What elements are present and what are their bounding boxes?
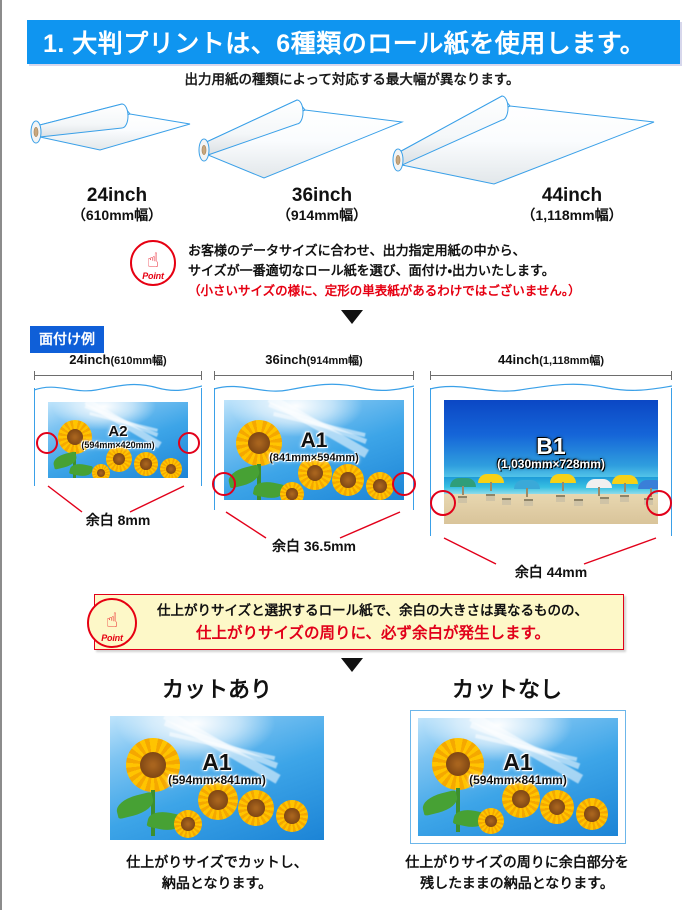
roll-name: 44inch (487, 185, 657, 206)
hand-glyph: ☝ (147, 251, 159, 271)
beach-umbrella (612, 475, 638, 484)
point-badge-label: Point (132, 271, 174, 281)
dim-cap-left (430, 371, 431, 380)
size-name: B1 (444, 434, 658, 458)
compare-left-title: カットあり (102, 672, 332, 704)
roll-label-44inch: 44inch （1,118mm幅） (487, 185, 657, 224)
beach-umbrella (514, 480, 540, 489)
margin-note: 余白 8mm (34, 510, 202, 530)
margin-highlight-right (392, 472, 416, 496)
panel-dim-title: 36inch(914mm幅) (214, 352, 414, 369)
sheet-edge-left (34, 388, 35, 486)
compare-left-artwork: A1 (594mm×841mm) (110, 716, 324, 840)
point-note-2: ☝ Point 仕上がりサイズと選択するロール紙で、余白の大きさは異なるものの、… (94, 594, 624, 650)
beach-umbrella (638, 480, 658, 489)
point-note-1: ☝ Point お客様のデータサイズに合わせ、出力指定用紙の中から、 サイズが一… (130, 240, 581, 301)
artwork-size-label: A1 (841mm×594mm) (224, 430, 404, 465)
roll-36inch (199, 100, 402, 178)
arrow-down-icon (341, 658, 363, 672)
panel-roll-sub: (610mm幅) (110, 355, 166, 367)
point-note-1-line1: お客様のデータサイズに合わせ、出力指定用紙の中から、 (188, 241, 581, 261)
roll-diagram-svg (2, 92, 700, 187)
section-header-bar: 1. 大判プリントは、6種類のロール紙を使用します。 (27, 20, 680, 64)
size-dims: (594mm×841mm) (418, 774, 618, 788)
roll-width: （1,118mm幅） (487, 206, 657, 224)
artwork-a2: A2 (594mm×420mm) (48, 402, 188, 478)
roll-name: 24inch (42, 185, 192, 206)
point-note-2-line1: 仕上がりサイズと選択するロール紙で、余白の大きさは異なるものの、 (157, 599, 623, 622)
point-note-2-text: 仕上がりサイズと選択するロール紙で、余白の大きさは異なるものの、 仕上がりサイズ… (95, 599, 623, 646)
roll-sheet: B1 (1,030mm×728mm) (430, 380, 672, 536)
sheet-edge-left (430, 388, 431, 536)
point-note-1-line3: （小さいサイズの様に、定形の単表紙があるわけではございません。） (188, 281, 581, 301)
margin-highlight-right (178, 432, 200, 454)
artwork-size-label: A1 (594mm×841mm) (418, 750, 618, 788)
compare-right-caption: 仕上がりサイズの周りに余白部分を 残したままの納品となります。 (392, 852, 642, 894)
artwork-size-label: B1 (1,030mm×728mm) (444, 434, 658, 472)
beach-umbrella (586, 479, 612, 488)
dim-cap-right (413, 371, 414, 380)
dim-cap-right (671, 371, 672, 380)
dimension-bar (430, 371, 672, 380)
panel-dim-title: 24inch(610mm幅) (34, 352, 202, 369)
panel-dim-title: 44inch(1,118mm幅) (430, 352, 672, 369)
margin-highlight-left (36, 432, 58, 454)
beach-umbrella (550, 474, 576, 483)
roll-24inch (31, 104, 190, 150)
point-badge-label: Point (89, 633, 135, 643)
size-dims: (1,030mm×728mm) (444, 458, 658, 472)
imposition-panel-36inch: 36inch(914mm幅) A1 (841 (214, 352, 414, 510)
artwork-b1: B1 (1,030mm×728mm) (444, 400, 658, 524)
margin-note: 余白 36.5mm (214, 536, 414, 556)
compare-right-title: カットなし (392, 672, 622, 704)
size-dims: (594mm×420mm) (48, 440, 188, 450)
page-title: 1. 大判プリントは、6種類のロール紙を使用します。 (27, 24, 645, 60)
sheet-edge-right (201, 388, 202, 486)
margin-highlight-left (212, 472, 236, 496)
point-note-2-line2: 仕上がりサイズの周りに、必ず余白が発生します。 (157, 622, 623, 646)
pointing-hand-icon: ☝ Point (87, 598, 137, 648)
dim-cap-left (214, 371, 215, 380)
beach-umbrella (450, 478, 476, 487)
artwork-a1: A1 (841mm×594mm) (224, 400, 404, 500)
caption-line1: 仕上がりサイズの周りに余白部分を (392, 852, 642, 873)
beach-umbrella (478, 474, 504, 483)
pointing-hand-icon: ☝ Point (130, 240, 176, 286)
torn-edge-wave (34, 380, 202, 396)
header-subtitle: 出力用紙の種類によって対応する最大幅が異なります。 (2, 68, 700, 88)
imposition-tag: 面付け例 (30, 326, 104, 353)
size-dims: (594mm×841mm) (110, 774, 324, 788)
torn-edge-wave (430, 380, 672, 396)
size-name: A1 (224, 430, 404, 452)
sheet-edge-right (671, 388, 672, 536)
hand-glyph: ☝ (106, 611, 118, 631)
caption-line1: 仕上がりサイズでカットし、 (102, 852, 332, 873)
dimension-bar (34, 371, 202, 380)
artwork-a1-nocut: A1 (594mm×841mm) (418, 718, 618, 836)
roll-label-36inch: 36inch （914mm幅） (247, 185, 397, 224)
roll-sheet: A1 (841mm×594mm) (214, 380, 414, 510)
roll-illustrations (2, 92, 700, 187)
panel-roll-sub: (914mm幅) (306, 355, 362, 367)
margin-note: 余白 44mm (430, 562, 672, 582)
size-name: A2 (48, 424, 188, 440)
panel-roll-sub: (1,118mm幅) (539, 355, 604, 367)
point-note-1-line2: サイズが一番適切なロール紙を選び、面付け・出力いたします。 (188, 261, 581, 281)
roll-label-24inch: 24inch （610mm幅） (42, 185, 192, 224)
dim-cap-left (34, 371, 35, 380)
point-note-1-text: お客様のデータサイズに合わせ、出力指定用紙の中から、 サイズが一番適切なロール紙… (188, 240, 581, 301)
roll-width: （610mm幅） (42, 206, 192, 224)
size-dims: (841mm×594mm) (224, 452, 404, 465)
compare-right-artwork: A1 (594mm×841mm) (410, 710, 626, 844)
imposition-panel-24inch: 24inch(610mm幅) A2 (594 (34, 352, 202, 486)
panel-roll-name: 44inch (498, 352, 539, 367)
margin-highlight-left (430, 490, 456, 516)
roll-name: 36inch (247, 185, 397, 206)
margin-highlight-right (646, 490, 672, 516)
compare-left-caption: 仕上がりサイズでカットし、 納品となります。 (102, 852, 332, 894)
torn-edge-wave (214, 380, 414, 396)
roll-sheet: A2 (594mm×420mm) (34, 380, 202, 486)
roll-width: （914mm幅） (247, 206, 397, 224)
roll-labels: 24inch （610mm幅） 36inch （914mm幅） 44inch （… (2, 185, 700, 227)
arrow-down-icon (341, 310, 363, 324)
roll-44inch (393, 96, 654, 184)
panel-roll-name: 24inch (69, 352, 110, 367)
artwork-a1-cut: A1 (594mm×841mm) (110, 716, 324, 840)
panel-roll-name: 36inch (265, 352, 306, 367)
caption-line2: 納品となります。 (102, 873, 332, 894)
size-name: A1 (418, 750, 618, 774)
artwork-size-label: A2 (594mm×420mm) (48, 424, 188, 450)
imposition-panel-44inch: 44inch(1,118mm幅) (430, 352, 672, 536)
caption-line2: 残したままの納品となります。 (392, 873, 642, 894)
size-name: A1 (110, 750, 324, 774)
dim-cap-right (201, 371, 202, 380)
artwork-size-label: A1 (594mm×841mm) (110, 750, 324, 788)
dimension-bar (214, 371, 414, 380)
